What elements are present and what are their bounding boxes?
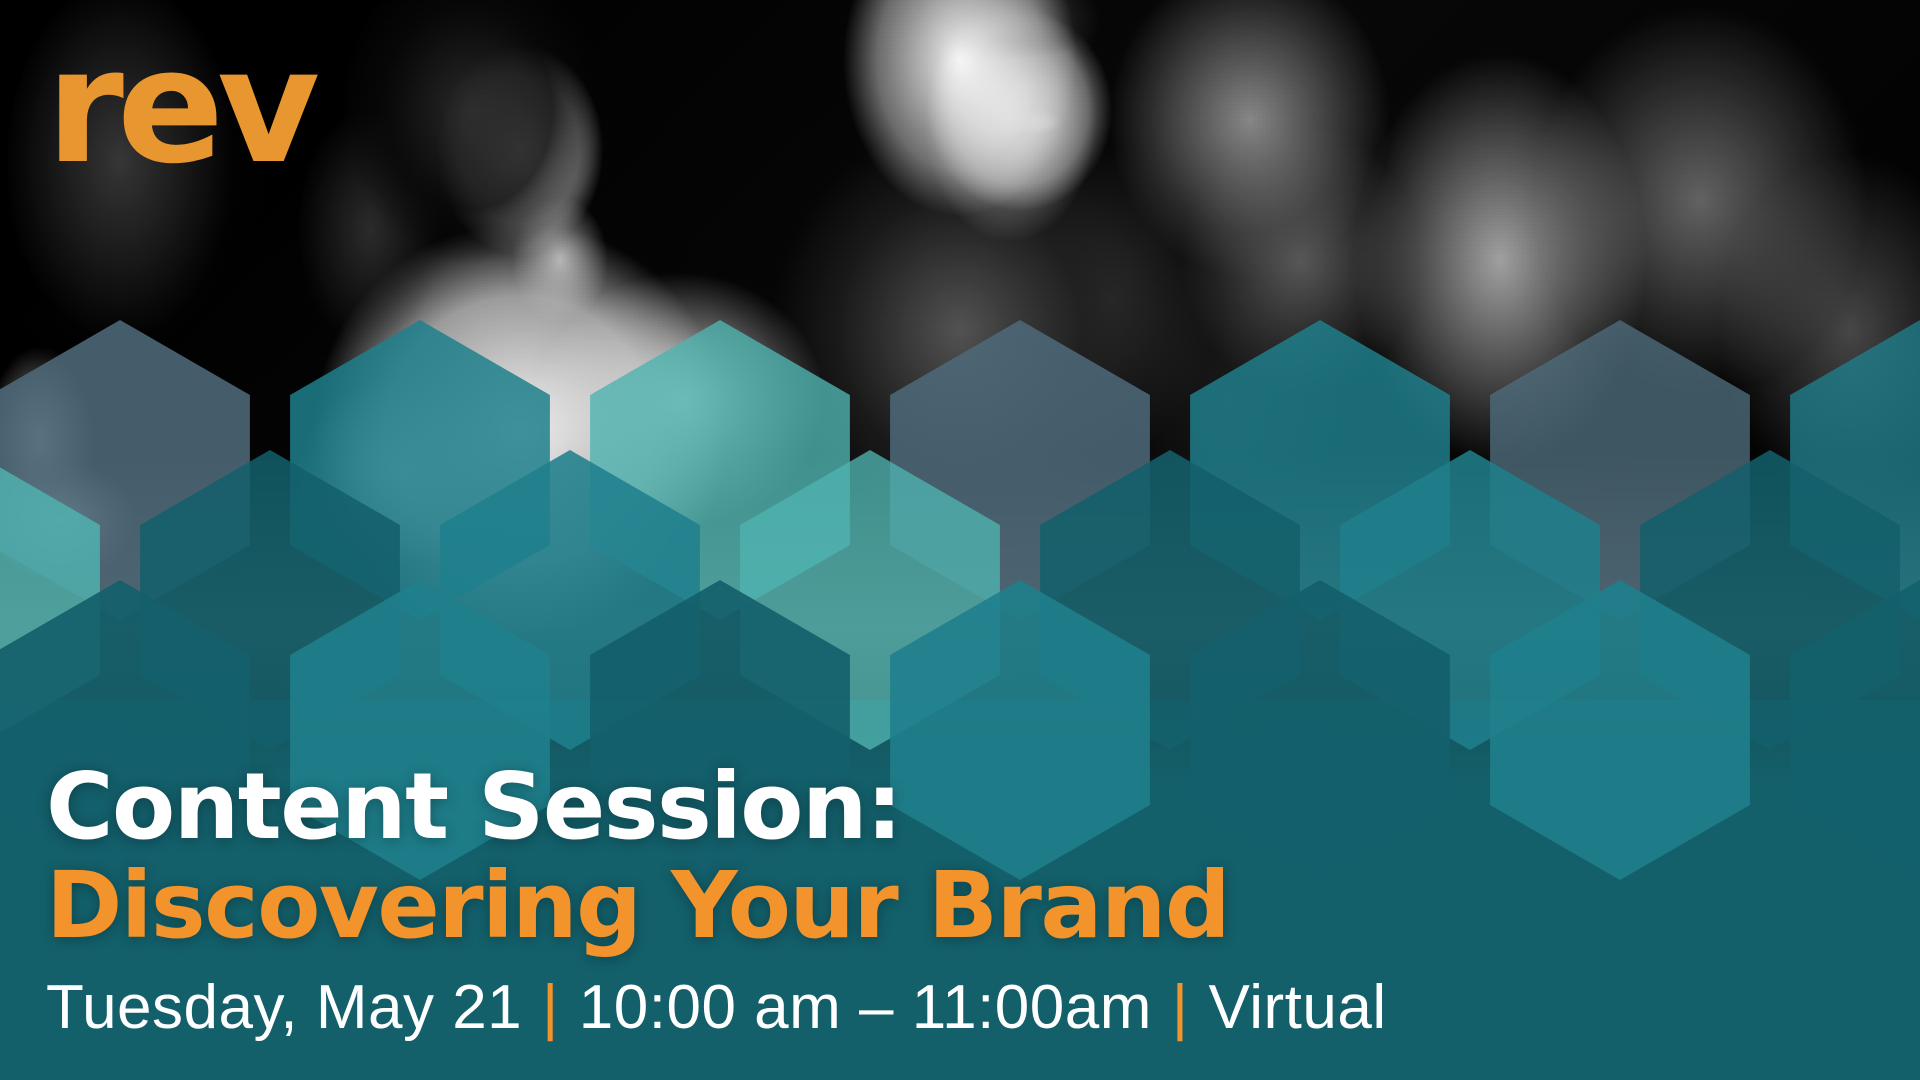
event-title-secondary: Discovering Your Brand — [46, 858, 1806, 955]
rev-logo[interactable]: rev — [46, 28, 313, 186]
event-date: Tuesday, May 21 — [46, 973, 522, 1042]
event-location: Virtual — [1209, 973, 1387, 1042]
event-title-primary: Content Session: — [46, 760, 1806, 854]
event-promo-banner: rev Content Session: Discovering Your Br… — [0, 0, 1920, 1080]
event-text-block: Content Session: Discovering Your Brand … — [46, 760, 1806, 1046]
event-details-line: Tuesday, May 21|10:00 am – 11:00am|Virtu… — [46, 969, 1806, 1047]
separator-pipe-2: | — [1172, 969, 1189, 1047]
event-time: 10:00 am – 11:00am — [579, 973, 1152, 1042]
separator-pipe-1: | — [542, 969, 559, 1047]
